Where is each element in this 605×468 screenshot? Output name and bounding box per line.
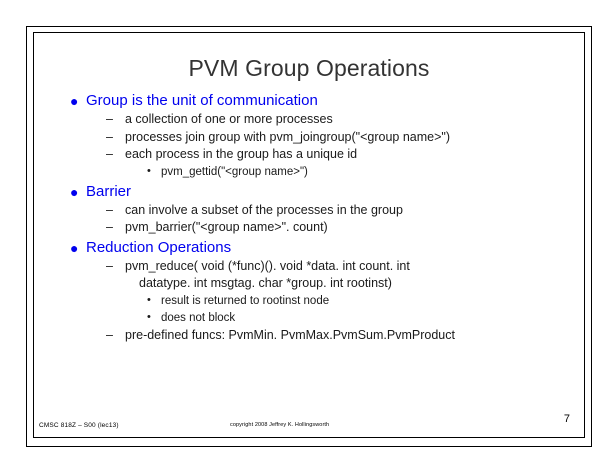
bullet-text: Reduction Operations bbox=[86, 239, 231, 256]
bullet-level2: – a collection of one or more processes bbox=[34, 111, 584, 129]
bullet-text: a collection of one or more processes bbox=[125, 112, 333, 126]
bullet-level1: ● Barrier bbox=[34, 182, 584, 202]
slide-body: ● Group is the unit of communication – a… bbox=[34, 91, 584, 344]
bullet-text: can involve a subset of the processes in… bbox=[125, 203, 403, 217]
bullet-level2: – pre-defined funcs: PvmMin. PvmMax.PvmS… bbox=[34, 327, 584, 345]
bullet-dot-icon: • bbox=[147, 309, 151, 326]
bullet-text: Barrier bbox=[86, 183, 131, 200]
footer-page-number: 7 bbox=[564, 413, 570, 425]
bullet-dash-icon: – bbox=[106, 146, 113, 164]
bullet-level2: – each process in the group has a unique… bbox=[34, 146, 584, 164]
bullet-dash-icon: – bbox=[106, 327, 113, 345]
footer-copyright-label: copyright 2008 Jeffrey K. Hollingsworth bbox=[230, 421, 329, 430]
bullet-text: each process in the group has a unique i… bbox=[125, 147, 357, 161]
bullet-level1: ● Group is the unit of communication bbox=[34, 91, 584, 111]
bullet-disc-icon: ● bbox=[70, 238, 78, 258]
slide-page: PVM Group Operations ● Group is the unit… bbox=[0, 0, 605, 468]
bullet-text: pvm_reduce( void (*func)(). void *data. … bbox=[125, 259, 410, 273]
bullet-level2: – can involve a subset of the processes … bbox=[34, 202, 584, 220]
slide-canvas: PVM Group Operations ● Group is the unit… bbox=[34, 33, 584, 437]
bullet-dash-icon: – bbox=[106, 111, 113, 129]
bullet-text: processes join group with pvm_joingroup(… bbox=[125, 130, 450, 144]
bullet-text: pvm_barrier("<group name>". count) bbox=[125, 220, 328, 234]
bullet-disc-icon: ● bbox=[70, 91, 78, 111]
bullet-level3: • pvm_gettid("<group name>") bbox=[34, 164, 584, 181]
bullet-level2: – pvm_reduce( void (*func)(). void *data… bbox=[34, 258, 584, 293]
bullet-text: does not block bbox=[161, 312, 235, 324]
bullet-level3: • does not block bbox=[34, 310, 584, 327]
bullet-dash-icon: – bbox=[106, 258, 113, 276]
bullet-text: Group is the unit of communication bbox=[86, 92, 318, 109]
bullet-dash-icon: – bbox=[106, 202, 113, 220]
bullet-dash-icon: – bbox=[106, 129, 113, 147]
bullet-dot-icon: • bbox=[147, 163, 151, 180]
bullet-level1: ● Reduction Operations bbox=[34, 238, 584, 258]
bullet-text: result is returned to rootinst node bbox=[161, 295, 329, 307]
bullet-dot-icon: • bbox=[147, 292, 151, 309]
slide-title: PVM Group Operations bbox=[34, 54, 584, 82]
bullet-level3: • result is returned to rootinst node bbox=[34, 293, 584, 310]
footer-course-label: CMSC 818Z – S00 (lec13) bbox=[39, 421, 119, 430]
bullet-dash-icon: – bbox=[106, 219, 113, 237]
bullet-level2: – pvm_barrier("<group name>". count) bbox=[34, 219, 584, 237]
bullet-disc-icon: ● bbox=[70, 182, 78, 202]
bullet-text-continuation: datatype. int msgtag. char *group. int r… bbox=[125, 275, 584, 293]
bullet-text: pre-defined funcs: PvmMin. PvmMax.PvmSum… bbox=[125, 328, 455, 342]
bullet-text: pvm_gettid("<group name>") bbox=[161, 166, 308, 178]
bullet-level2: – processes join group with pvm_joingrou… bbox=[34, 129, 584, 147]
